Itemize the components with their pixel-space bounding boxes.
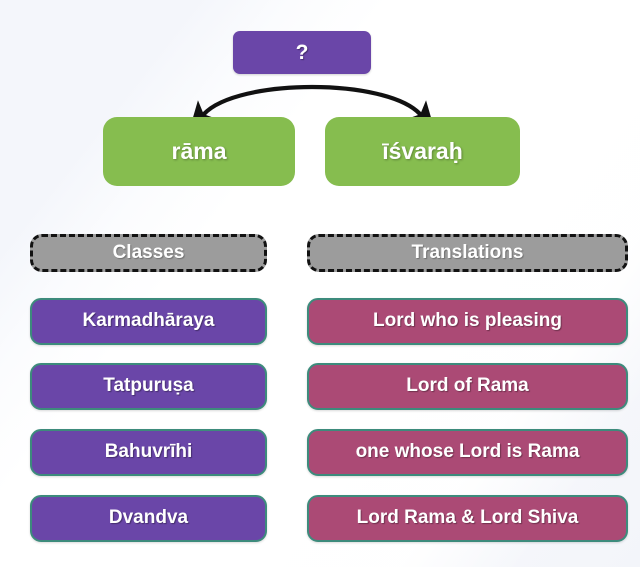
- class-chip-karmadharaya[interactable]: Karmadhāraya: [30, 298, 267, 345]
- term-node-isvarah[interactable]: īśvaraḥ: [325, 117, 520, 186]
- column-header-translations: Translations: [307, 234, 628, 272]
- class-chip-dvandva[interactable]: Dvandva: [30, 495, 267, 542]
- question-node[interactable]: ?: [233, 31, 371, 74]
- term-node-rama[interactable]: rāma: [103, 117, 295, 186]
- class-chip-tatpurusa[interactable]: Tatpuruṣa: [30, 363, 267, 410]
- background-gradient-sweep: [0, 0, 640, 567]
- class-chip-bahuvrihi[interactable]: Bahuvrīhi: [30, 429, 267, 476]
- translation-chip-one-whose-lord-is-rama[interactable]: one whose Lord is Rama: [307, 429, 628, 476]
- translation-chip-lord-of-rama[interactable]: Lord of Rama: [307, 363, 628, 410]
- translation-chip-lord-rama-and-lord-shiva[interactable]: Lord Rama & Lord Shiva: [307, 495, 628, 542]
- diagram-canvas: ? rāma īśvaraḥ Classes Translations Karm…: [0, 0, 640, 567]
- column-header-classes: Classes: [30, 234, 267, 272]
- translation-chip-lord-who-is-pleasing[interactable]: Lord who is pleasing: [307, 298, 628, 345]
